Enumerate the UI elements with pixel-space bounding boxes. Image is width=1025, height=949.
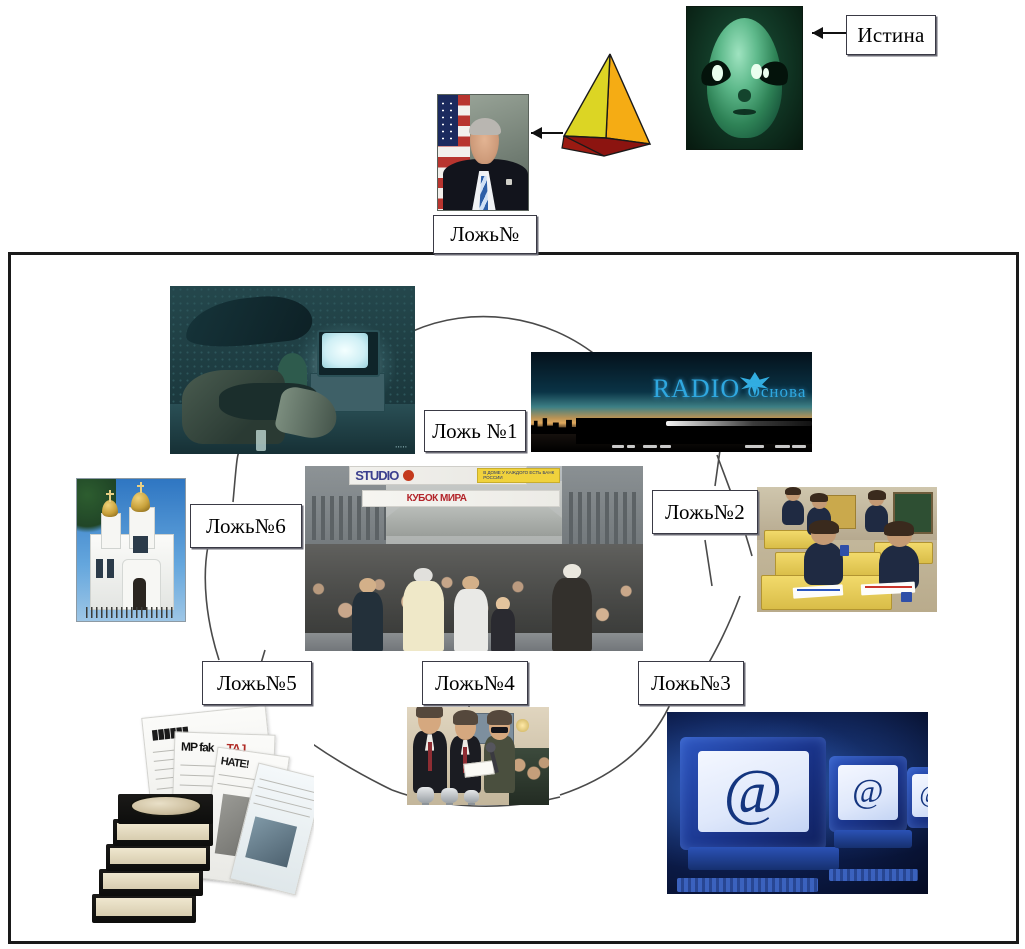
banner-studio-dot (403, 470, 414, 481)
notebook-stripe (865, 586, 912, 588)
top-lie-label-text: Ложь№ (450, 222, 519, 247)
pedestrian (403, 570, 444, 651)
pedestrian (454, 577, 488, 651)
monitor-back: @ (907, 767, 928, 829)
truth-label-text: Истина (857, 23, 924, 48)
radio-button-4 (660, 445, 671, 449)
newspaper-photo (246, 816, 297, 867)
trophy-cup (417, 787, 434, 803)
lie-4-label-text: Ложь№4 (435, 671, 515, 696)
truth-label[interactable]: Истина (846, 15, 936, 55)
keyboard-front (677, 878, 818, 893)
pedestrian-child (491, 599, 515, 651)
monitor-middle: @ (829, 756, 907, 832)
radio-light-bar (666, 421, 812, 426)
radio-banner-image: RADIO Основа (531, 352, 812, 452)
lie-1-label-text: Ложь №1 (432, 419, 518, 444)
pencil-cup (840, 545, 849, 556)
tv-screen (322, 333, 369, 368)
radio-button-6 (775, 445, 789, 449)
church-dome-left (102, 500, 118, 517)
trophy-cup (464, 790, 480, 803)
church-dome-right (131, 492, 150, 512)
radio-logo-text: RADIO Основа (653, 374, 807, 404)
dark-glasses-icon (491, 727, 508, 733)
classroom-image (757, 487, 937, 612)
banner-yellow-text: В ДОМЕ У КАЖДОГО ЕСТЬ БАНК РОССИИ (483, 470, 559, 481)
computers-image: @ @ @ (667, 712, 928, 894)
banner-red-text: КУБОК МИРА (407, 493, 467, 504)
arrow-truth-to-alien (812, 26, 846, 40)
church-window-1 (96, 559, 102, 579)
monitor-front-screen: @ (698, 751, 809, 832)
street-crowd-image: STUDIO В ДОМЕ У КАЖДОГО ЕСТЬ БАНК РОССИИ… (305, 466, 643, 651)
lie-3-label-text: Ложь№3 (651, 671, 731, 696)
alien-eye-glint-1 (712, 65, 722, 81)
lie-3-label[interactable]: Ложь№3 (638, 661, 744, 705)
image-watermark: ▪▪▪▪▪ (396, 444, 408, 449)
radio-button-3 (643, 445, 657, 449)
student (782, 500, 804, 525)
radio-word-sub: Основа (748, 382, 807, 401)
monitor-middle-screen: @ (838, 765, 898, 820)
radio-button-1 (612, 445, 623, 449)
computer-case-front (688, 847, 839, 871)
audience (509, 748, 549, 805)
radio-button-2 (627, 445, 635, 449)
lie-4-label[interactable]: Ложь№4 (422, 661, 528, 705)
church-window-2 (107, 559, 113, 579)
lie-5-label-text: Ложь№5 (217, 671, 297, 696)
radio-button-5 (745, 445, 765, 449)
church-cross-right-vertical (140, 482, 142, 493)
lapel-pin (506, 179, 512, 185)
church-fence (86, 607, 177, 618)
diagram-canvas: Истина Ложь№ (0, 0, 1025, 949)
book (106, 844, 210, 871)
monitor-front: @ (680, 737, 826, 850)
flag-stars (439, 100, 456, 141)
pyramid-shape (560, 52, 652, 160)
meeting-podium-image (407, 707, 549, 805)
bottle (256, 430, 266, 450)
notebook-stripe (797, 589, 840, 591)
radio-button-7 (792, 445, 806, 449)
church-cross-right-horizontal (137, 485, 145, 487)
lie-6-label-text: Ложь№6 (206, 514, 286, 539)
lie-1-label[interactable]: Ложь №1 (424, 410, 526, 452)
alien-eye-glint-3 (763, 68, 769, 78)
keyboard-middle (829, 869, 918, 882)
alien-mouth (733, 109, 756, 115)
lie-6-label[interactable]: Ложь№6 (190, 504, 302, 548)
church-cross-left-horizontal (106, 493, 114, 495)
window-row-right (569, 492, 637, 544)
banner-red: КУБОК МИРА (362, 490, 560, 507)
church-drum-left (101, 513, 121, 549)
newspaper-headline-1: MP fak (181, 740, 214, 755)
trophy-cup (441, 788, 458, 803)
book (92, 894, 196, 923)
church-cross-left-vertical (109, 490, 111, 501)
lie-2-label-text: Ложь№2 (665, 500, 745, 525)
street-arch (386, 507, 562, 537)
church-window-3 (133, 536, 148, 553)
president-portrait-image (437, 94, 529, 211)
church-image (76, 478, 186, 622)
arrow-pyramid-to-president (531, 126, 563, 140)
lie-2-label[interactable]: Ложь№2 (652, 490, 758, 534)
student (804, 542, 844, 585)
television-image: ▪▪▪▪▪ (170, 286, 415, 454)
alien-head-image (686, 6, 803, 150)
radio-word-main: RADIO (653, 374, 740, 403)
books-newspapers-image: ▮▮▮▮▮▮ MP fak TAJ HATE! (78, 706, 314, 932)
decorative-plate (130, 795, 202, 817)
computer-case-middle (834, 830, 912, 848)
pedestrian (552, 566, 593, 651)
top-lie-label[interactable]: Ложь№ (433, 215, 537, 254)
church-door (133, 578, 146, 609)
book (99, 869, 203, 896)
banner-yellow: В ДОМЕ У КАЖДОГО ЕСТЬ БАНК РОССИИ (477, 468, 560, 483)
pedestrian (352, 581, 382, 651)
speaker-left (413, 731, 447, 794)
newspaper-headline-3: HATE! (220, 755, 249, 771)
banner-studio-text: STUDIO (355, 468, 398, 483)
monitor-back-screen: @ (912, 774, 928, 817)
pencil-cup (901, 592, 912, 602)
alien-eye-glint-2 (751, 64, 761, 80)
lie-5-label[interactable]: Ложь№5 (202, 661, 312, 705)
